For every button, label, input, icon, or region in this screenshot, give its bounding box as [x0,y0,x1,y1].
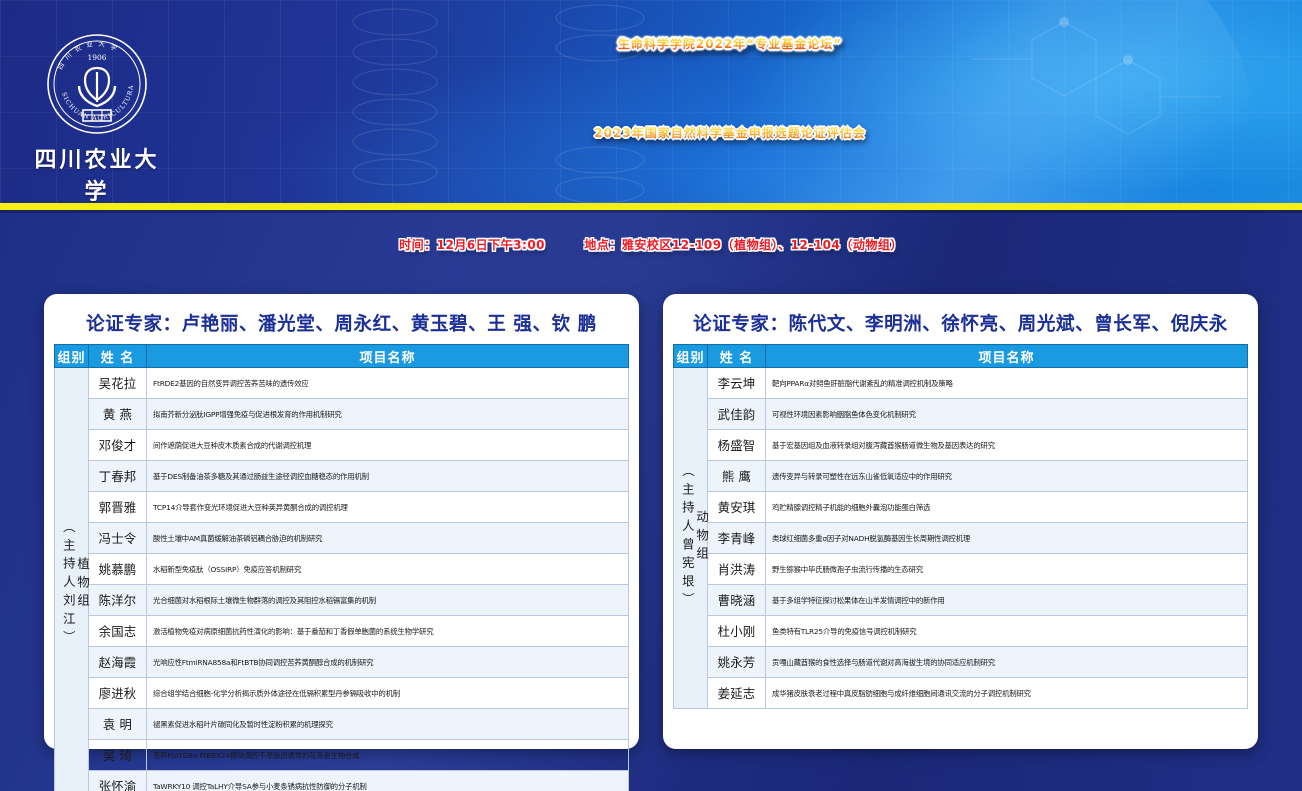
cell-project: TCP14介导套作变光环境促进大豆种荚异黄酮合成的调控机理 [147,492,629,523]
cell-name: 吴 琦 [89,740,147,771]
cell-name: 黄安琪 [708,492,766,523]
cell-project: 水稻新型免疫肽（OSSIRP）免疫应答机制研究 [147,554,629,585]
svg-text:1906: 1906 [87,53,106,62]
table-row: 植物组 （主持人刘江）吴花拉FtRDE2基因的自然变异调控苦荞苦味的遗传效应 [55,368,629,399]
cell-project: 基于宏基因组及血液转录组对腹泻藏酋猴肠道微生物及基因表达的研究 [766,430,1248,461]
cell-name: 赵海霞 [89,647,147,678]
cell-project: 贡嘎山藏酋猴的食性选择与肠道代谢对高海拔生境的协同适应机制研究 [766,647,1248,678]
group-label-vertical-text: 植物组 （主持人刘江） [61,520,90,649]
page-title: 生命科学学院2022年“专业基金论坛” [170,38,1290,51]
cell-name: 袁 明 [89,709,147,740]
university-name-cn: 四川农业大学 [24,142,170,203]
cell-name: 冯士令 [89,523,147,554]
table-row: 姜延志成华猪皮肤衰老过程中真皮脂肪细胞与成纤维细胞间通讯交流的分子调控机制研究 [674,678,1248,709]
cell-name: 曹晓涵 [708,585,766,616]
cell-project: 拟南芥新分泌肽IGPP增强免疫与促进根发育的作用机制研究 [147,399,629,430]
cell-project: 光合细菌对水稻根际土壤微生物群落的调控及其阻控水稻镉富集的机制 [147,585,629,616]
table-body: 植物组 （主持人刘江）吴花拉FtRDE2基因的自然变异调控苦荞苦味的遗传效应黄 … [55,368,629,791]
cell-project: 遗传变异与转录可塑性在远东山雀低氧适应中的作用研究 [766,461,1248,492]
cell-project: 间作遮荫促进大豆种皮木质素合成的代谢调控机理 [147,430,629,461]
table-row: 动物组 （主持人曾宪垠）李云坤靶向PPARα对鲟鱼肝脏脂代谢紊乱的精准调控机制及… [674,368,1248,399]
th-name: 姓 名 [89,345,147,368]
page-subtitle: 2023年国家自然科学基金申报选题论证评估会 [170,124,1290,141]
cell-name: 肖洪涛 [708,554,766,585]
table-header-row: 组别 姓 名 项目名称 [55,345,629,368]
cell-name: 余国志 [89,616,147,647]
cell-project: 鸡贮精腺调控精子机能的细胞外囊泡功能蛋白筛选 [766,492,1248,523]
table-row: 熊 鹰遗传变异与转录可塑性在远东山雀低氧适应中的作用研究 [674,461,1248,492]
cell-name: 陈洋尔 [89,585,147,616]
table-row: 张怀渝TaWRKY10 调控TaLHY介导SA参与小麦条锈病抗性防御的分子机制 [55,771,629,791]
table-row: 姚永芳贡嘎山藏酋猴的食性选择与肠道代谢对高海拔生境的协同适应机制研究 [674,647,1248,678]
cell-project: 类球红细菌多重σ因子对NADH脱氢酶基因生长周期性调控机理 [766,523,1248,554]
event-place: 地点：雅安校区12-109（植物组）、12-104（动物组） [584,238,902,252]
table-row: 李青峰类球红细菌多重σ因子对NADH脱氢酶基因生长周期性调控机理 [674,523,1248,554]
group-label-cell: 植物组 （主持人刘江） [55,368,89,791]
cell-project: 基于多组学特征探讨松果体在山羊发情调控中的新作用 [766,585,1248,616]
cell-project: 褪黑素促进水稻叶片碳同化及暂时性淀粉积累的机理探究 [147,709,629,740]
group-label-cell: 动物组 （主持人曾宪垠） [674,368,708,709]
university-logo: 1906 四 川 农 业 大 学 SICHUAN AGRICULTURAL UN… [24,32,170,192]
cell-name: 邓俊才 [89,430,147,461]
table-row: 袁 明褪黑素促进水稻叶片碳同化及暂时性淀粉积累的机理探究 [55,709,629,740]
th-group: 组别 [674,345,708,368]
cell-name: 廖进秋 [89,678,147,709]
table-row: 陈洋尔光合细菌对水稻根际土壤微生物群落的调控及其阻控水稻镉富集的机制 [55,585,629,616]
cell-name: 李云坤 [708,368,766,399]
cell-name: 郭晋雅 [89,492,147,523]
panel-plant-group: 论证专家：卢艳丽、潘光堂、周永红、黄玉碧、王 强、钦 鹏 组别 姓 名 项目名称… [44,294,639,749]
cell-project: 可视性环境因素影响胭脂鱼体色变化机制研究 [766,399,1248,430]
cell-project: 基于DES制备油茶多糖及其通过肠益生途径调控血糖稳态的作用机制 [147,461,629,492]
cell-name: 张怀渝 [89,771,147,791]
header-ellipse-pattern [300,0,720,203]
cell-project: 野生猕猴中毕氏肠微孢子虫流行传播的生态研究 [766,554,1248,585]
table-row: 郭晋雅TCP14介导套作变光环境促进大豆种荚异黄酮合成的调控机理 [55,492,629,523]
table-row: 黄 燕拟南芥新分泌肽IGPP增强免疫与促进根发育的作用机制研究 [55,399,629,430]
cell-name: 李青峰 [708,523,766,554]
group-label-vertical-text: 动物组 （主持人曾宪垠） [680,464,709,611]
cell-name: 姚慕鹏 [89,554,147,585]
event-time: 时间：12月6日下午3:00 [399,238,545,252]
cell-name: 丁春邦 [89,461,147,492]
table-body: 动物组 （主持人曾宪垠）李云坤靶向PPARα对鲟鱼肝脏脂代谢紊乱的精准调控机制及… [674,368,1248,709]
cell-project: 光响应性FtmiRNA858a和FtBTB协同调控苦荞黄酮醇合成的机制研究 [147,647,629,678]
th-project: 项目名称 [766,345,1248,368]
cell-project: 激活植物免疫对病原细菌抗药性演化的影响：基于番茄和丁香假单胞菌的系统生物学研究 [147,616,629,647]
table-row: 杜小刚鱼类特有TLR25介导的免疫信号调控机制研究 [674,616,1248,647]
th-name: 姓 名 [708,345,766,368]
cell-name: 杜小刚 [708,616,766,647]
table-row: 邓俊才间作遮荫促进大豆种皮木质素合成的代谢调控机理 [55,430,629,461]
cell-project: 靶向PPARα对鲟鱼肝脏脂代谢紊乱的精准调控机制及策略 [766,368,1248,399]
cell-name: 姜延志 [708,678,766,709]
header-banner: 1906 四 川 农 业 大 学 SICHUAN AGRICULTURAL UN… [0,0,1302,203]
cell-name: 吴花拉 [89,368,147,399]
poster-root: 1906 四 川 农 业 大 学 SICHUAN AGRICULTURAL UN… [0,0,1302,791]
th-project: 项目名称 [147,345,629,368]
th-group: 组别 [55,345,89,368]
cell-project: 综合组学结合细胞-化学分析揭示质外体途径在低镉积累型丹参镉吸收中的机制 [147,678,629,709]
table-header-row: 组别 姓 名 项目名称 [674,345,1248,368]
cell-project: 鱼类特有TLR25介导的免疫信号调控机制研究 [766,616,1248,647]
table-row: 黄安琪鸡贮精腺调控精子机能的细胞外囊泡功能蛋白筛选 [674,492,1248,523]
cell-project: 苦荞FtATG8a-FtBBX24模块调控干旱胁迫诱导的花青素生物合成 [147,740,629,771]
panel-experts-line: 论证专家：卢艳丽、潘光堂、周永红、黄玉碧、王 强、钦 鹏 [54,304,629,344]
table-row: 赵海霞光响应性FtmiRNA858a和FtBTB协同调控苦荞黄酮醇合成的机制研究 [55,647,629,678]
event-meta-line: 时间：12月6日下午3:00 地点：雅安校区12-109（植物组）、12-104… [0,236,1302,253]
table-row: 冯士令酸性土壤中AM真菌缓解油茶磷铝耦合胁迫的机制研究 [55,523,629,554]
divider-shadow [0,210,1302,213]
table-row: 肖洪涛野生猕猴中毕氏肠微孢子虫流行传播的生态研究 [674,554,1248,585]
cell-name: 黄 燕 [89,399,147,430]
table-row: 廖进秋综合组学结合细胞-化学分析揭示质外体途径在低镉积累型丹参镉吸收中的机制 [55,678,629,709]
university-seal-icon: 1906 四 川 农 业 大 学 SICHUAN AGRICULTURAL UN… [45,32,149,136]
header-molecule-pattern [782,0,1302,203]
table-row: 余国志激活植物免疫对病原细菌抗药性演化的影响：基于番茄和丁香假单胞菌的系统生物学… [55,616,629,647]
project-table: 组别 姓 名 项目名称 植物组 （主持人刘江）吴花拉FtRDE2基因的自然变异调… [54,344,629,791]
cell-name: 杨盛智 [708,430,766,461]
table-row: 吴 琦苦荞FtATG8a-FtBBX24模块调控干旱胁迫诱导的花青素生物合成 [55,740,629,771]
cell-name: 武佳韵 [708,399,766,430]
cell-name: 熊 鹰 [708,461,766,492]
cell-project: TaWRKY10 调控TaLHY介导SA参与小麦条锈病抗性防御的分子机制 [147,771,629,791]
table-row: 曹晓涵基于多组学特征探讨松果体在山羊发情调控中的新作用 [674,585,1248,616]
table-row: 杨盛智基于宏基因组及血液转录组对腹泻藏酋猴肠道微生物及基因表达的研究 [674,430,1248,461]
panel-experts-line: 论证专家：陈代文、李明洲、徐怀亮、周光斌、曾长军、倪庆永 [673,304,1248,344]
table-row: 丁春邦基于DES制备油茶多糖及其通过肠益生途径调控血糖稳态的作用机制 [55,461,629,492]
table-row: 姚慕鹏水稻新型免疫肽（OSSIRP）免疫应答机制研究 [55,554,629,585]
cell-name: 姚永芳 [708,647,766,678]
panel-animal-group: 论证专家：陈代文、李明洲、徐怀亮、周光斌、曾长军、倪庆永 组别 姓 名 项目名称… [663,294,1258,749]
table-row: 武佳韵可视性环境因素影响胭脂鱼体色变化机制研究 [674,399,1248,430]
cell-project: FtRDE2基因的自然变异调控苦荞苦味的遗传效应 [147,368,629,399]
yellow-divider [0,203,1302,210]
cell-project: 酸性土壤中AM真菌缓解油茶磷铝耦合胁迫的机制研究 [147,523,629,554]
project-table: 组别 姓 名 项目名称 动物组 （主持人曾宪垠）李云坤靶向PPARα对鲟鱼肝脏脂… [673,344,1248,709]
cell-project: 成华猪皮肤衰老过程中真皮脂肪细胞与成纤维细胞间通讯交流的分子调控机制研究 [766,678,1248,709]
